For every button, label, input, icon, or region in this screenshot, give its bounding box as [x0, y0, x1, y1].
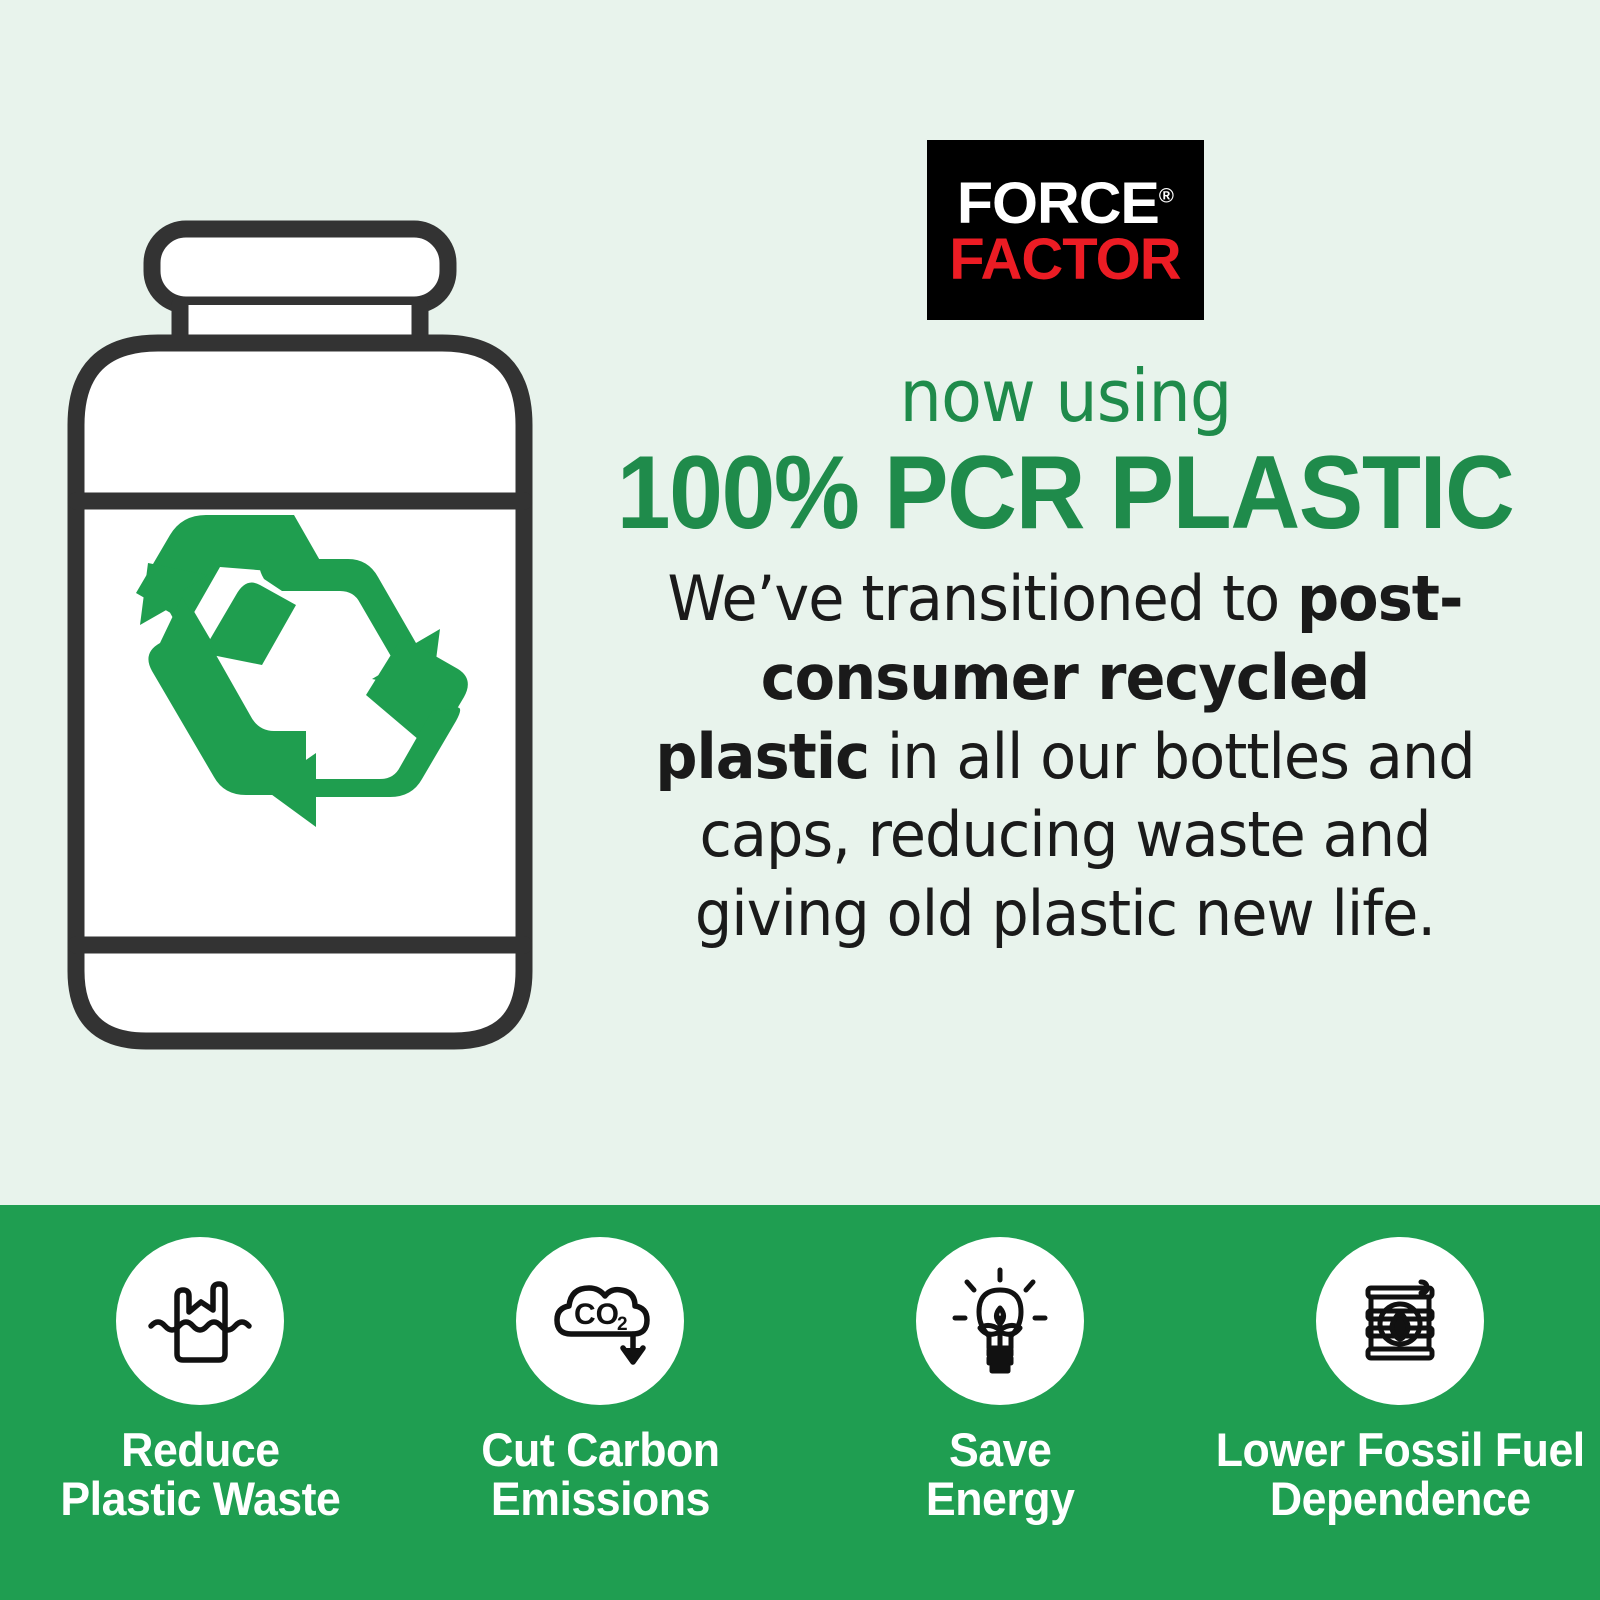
benefit-label: Save Energy [926, 1425, 1075, 1524]
hero-right-column: FORCE® FACTOR now using 100% PCR PLASTIC… [560, 140, 1570, 1060]
benefits-row: Reduce Plastic Waste CO 2 Cut Carbon Emi… [0, 1205, 1600, 1600]
benefit-item-cut-carbon-emissions: CO 2 Cut Carbon Emissions [400, 1205, 800, 1524]
force-factor-logo: FORCE® FACTOR [927, 140, 1204, 320]
oil-barrel-droplet-icon [1316, 1237, 1484, 1405]
body-part-1: We’ve transitioned to [667, 562, 1296, 635]
benefit-label: Cut Carbon Emissions [481, 1425, 719, 1524]
hero-body-copy: We’ve transitioned to post-consumer recy… [647, 560, 1483, 954]
benefit-item-save-energy: Save Energy [800, 1205, 1200, 1524]
hero-headline: 100% PCR PLASTIC [617, 440, 1514, 546]
svg-text:CO: CO [574, 1298, 619, 1331]
benefits-banner: Reduce Plastic Waste CO 2 Cut Carbon Emi… [0, 1205, 1600, 1600]
co2-cloud-down-arrow-icon: CO 2 [516, 1237, 684, 1405]
benefit-item-reduce-plastic-waste: Reduce Plastic Waste [0, 1205, 400, 1524]
plastic-bag-in-water-icon [116, 1237, 284, 1405]
hero-section: FORCE® FACTOR now using 100% PCR PLASTIC… [0, 0, 1600, 1205]
benefit-label: Lower Fossil Fuel Dependence [1215, 1425, 1584, 1524]
logo-line-factor: FACTOR [949, 232, 1180, 287]
hero-eyebrow: now using [899, 360, 1231, 432]
benefit-item-lower-fossil-fuel: Lower Fossil Fuel Dependence [1200, 1205, 1600, 1524]
svg-text:2: 2 [617, 1314, 628, 1335]
benefit-label: Reduce Plastic Waste [60, 1425, 340, 1524]
registered-mark: ® [1158, 185, 1173, 207]
logo-line-force: FORCE® [956, 177, 1173, 230]
product-jar-illustration [40, 215, 560, 1055]
lightbulb-plant-icon [916, 1237, 1084, 1405]
